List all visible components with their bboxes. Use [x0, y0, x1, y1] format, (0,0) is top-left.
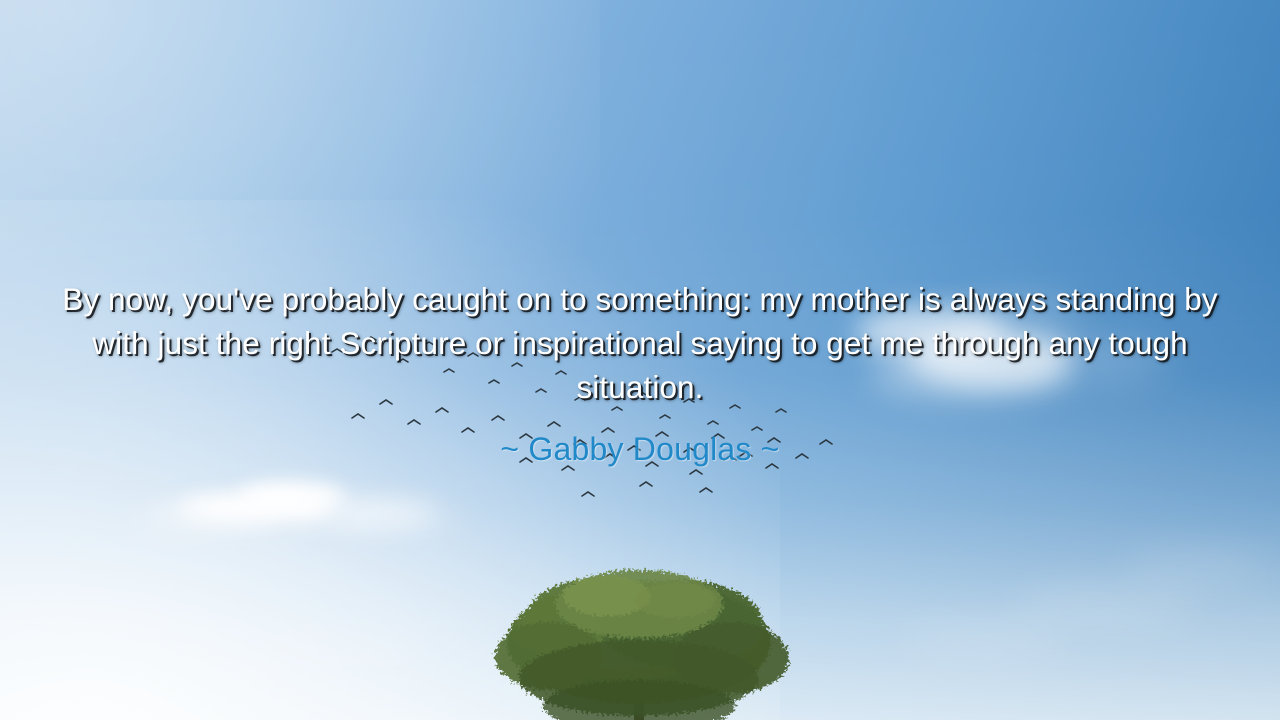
quote-author: ~ Gabby Douglas ~	[0, 409, 1280, 469]
quote-text: By now, you've probably caught on to som…	[0, 277, 1280, 409]
quote-image-canvas: By now, you've probably caught on to som…	[0, 0, 1280, 720]
oak-tree	[489, 560, 791, 720]
quote-block: By now, you've probably caught on to som…	[0, 277, 1280, 469]
